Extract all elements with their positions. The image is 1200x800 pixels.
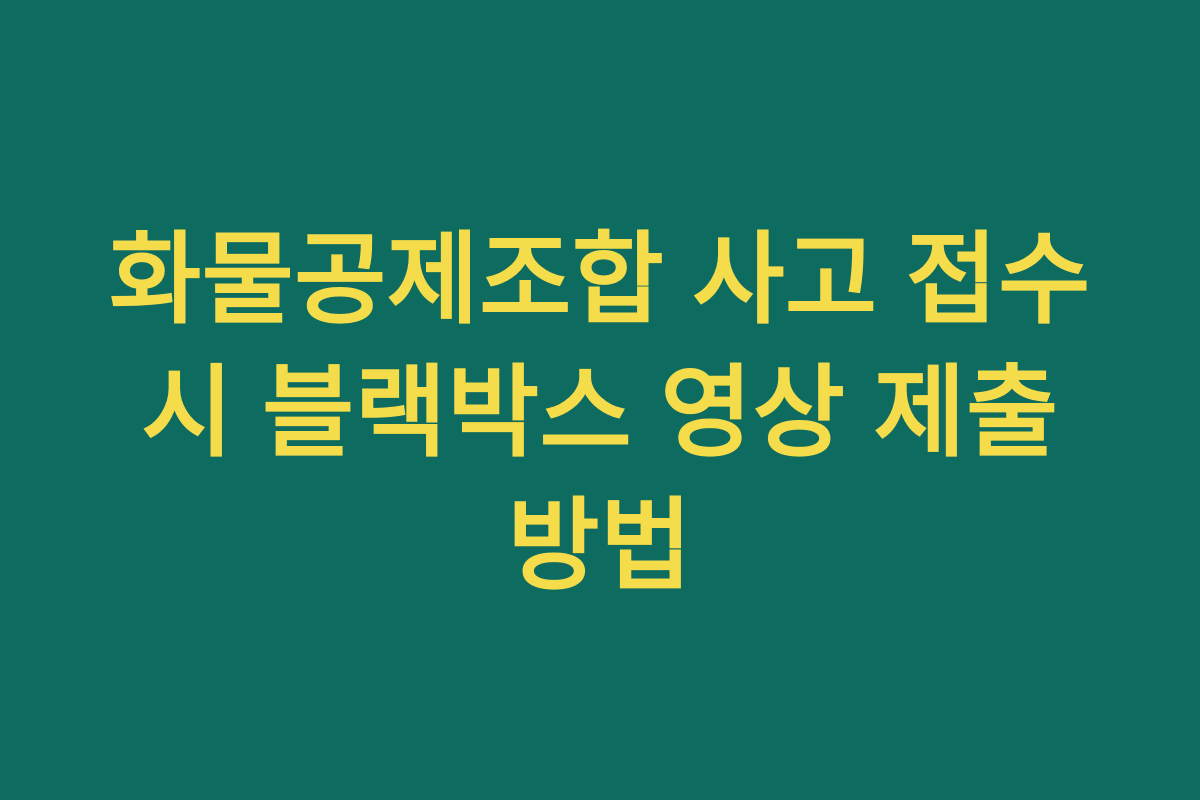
page-title-line-2: 시 블랙박스 영상 제출 [36,347,1164,480]
page-title-line-3: 방법 [36,480,1164,613]
headline-block: 화물공제조합 사고 접수 시 블랙박스 영상 제출 방법 [0,214,1200,613]
title-banner: 화물공제조합 사고 접수 시 블랙박스 영상 제출 방법 [0,0,1200,800]
page-title: 화물공제조합 사고 접수 시 블랙박스 영상 제출 방법 [36,214,1164,613]
page-title-line-1: 화물공제조합 사고 접수 [36,214,1164,347]
